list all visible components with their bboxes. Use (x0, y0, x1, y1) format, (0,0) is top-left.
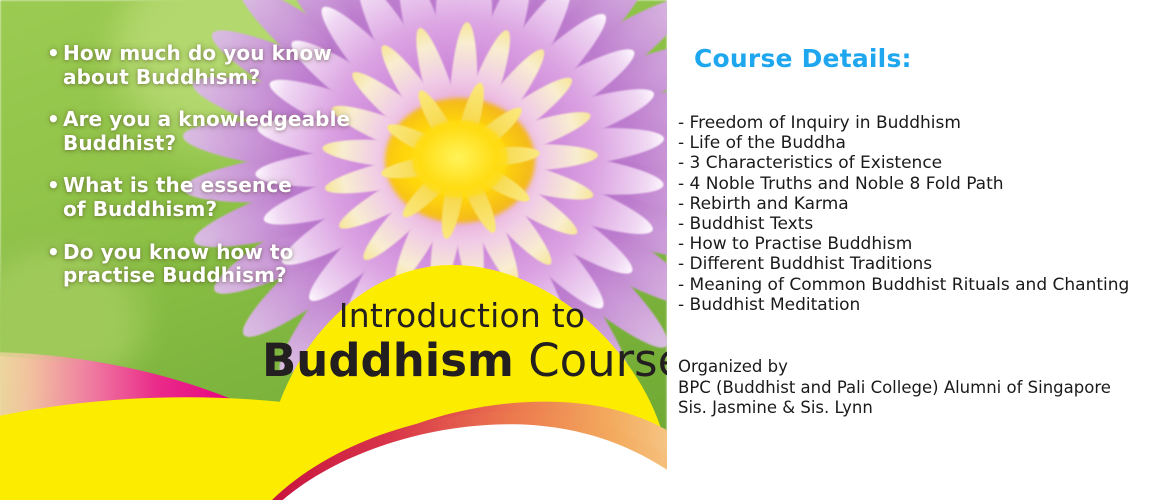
list-item: - Freedom of Inquiry in Buddhism (678, 113, 1129, 133)
organizer-label: Organized by (678, 357, 1111, 378)
course-topics-list: - Freedom of Inquiry in Buddhism - Life … (678, 113, 1129, 315)
right-details-panel: Course Details: - Freedom of Inquiry in … (667, 0, 1170, 500)
title-strong: Buddhism (262, 334, 514, 387)
organizer-block: Organized by BPC (Buddhist and Pali Coll… (678, 357, 1111, 419)
title-line-1: Introduction to (262, 299, 662, 334)
list-item: - Buddhist Texts (678, 214, 1129, 234)
decorative-swoosh-shape (0, 0, 667, 500)
list-item: - Different Buddhist Traditions (678, 254, 1129, 274)
organizer-name: BPC (Buddhist and Pali College) Alumni o… (678, 378, 1111, 399)
left-image-panel: • How much do you know about Buddhism? •… (0, 0, 667, 500)
page-title: Introduction to Buddhism Course (262, 299, 662, 385)
title-line-2: Buddhism Course (262, 336, 662, 386)
list-item: - Rebirth and Karma (678, 194, 1129, 214)
course-poster: • How much do you know about Buddhism? •… (0, 0, 1170, 500)
list-item: - Life of the Buddha (678, 133, 1129, 153)
list-item: - Meaning of Common Buddhist Rituals and… (678, 275, 1129, 295)
organizer-contacts: Sis. Jasmine & Sis. Lynn (678, 398, 1111, 419)
course-details-heading: Course Details: (694, 44, 912, 73)
list-item: - 4 Noble Truths and Noble 8 Fold Path (678, 174, 1129, 194)
list-item: - How to Practise Buddhism (678, 234, 1129, 254)
list-item: - 3 Characteristics of Existence (678, 153, 1129, 173)
list-item: - Buddhist Meditation (678, 295, 1129, 315)
title-rest: Course (514, 334, 667, 387)
